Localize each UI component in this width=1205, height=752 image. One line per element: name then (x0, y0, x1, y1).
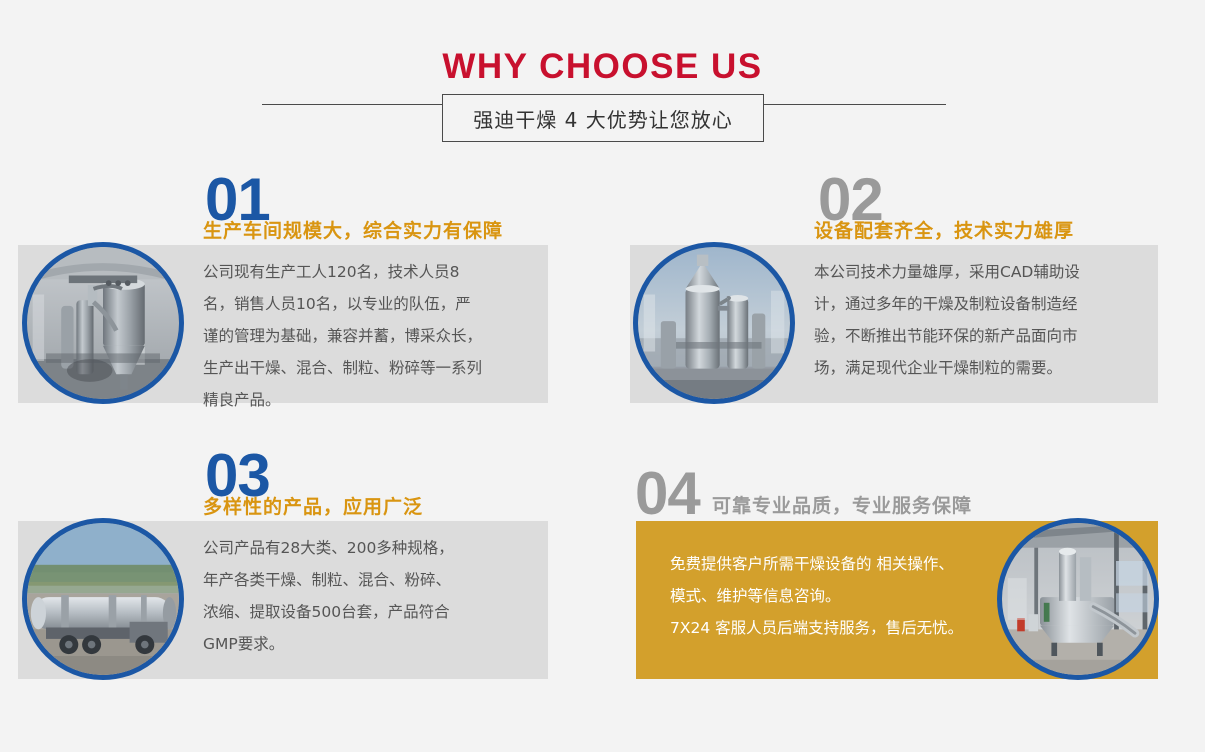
section-heading-03: 多样性的产品，应用广泛 (203, 495, 423, 519)
section-body-02: 本公司技术力量雄厚，采用CAD辅助设 计，通过多年的干燥及制粒设备制造经 验，不… (814, 256, 1162, 384)
page-title: WHY CHOOSE US (0, 47, 1205, 87)
photo-image (638, 247, 790, 399)
body-line: 公司产品有28大类、200多种规格， (203, 532, 533, 564)
body-line: 模式、维护等信息咨询。 (670, 580, 1000, 612)
body-line: 精良产品。 (203, 384, 533, 416)
page-header: WHY CHOOSE US 强迪干燥 4 大优势让您放心 (0, 0, 1205, 160)
body-line: 年产各类干燥、制粒、混合、粉碎、 (203, 564, 533, 596)
body-line: 场，满足现代企业干燥制粒的需要。 (814, 352, 1162, 384)
photo-image (1002, 523, 1154, 675)
body-line: 生产出干燥、混合、制粒、粉碎等一系列 (203, 352, 533, 384)
header-rule-right (764, 104, 946, 105)
header-subtitle: 强迪干燥 4 大优势让您放心 (473, 104, 732, 133)
section-heading-04: 可靠专业品质，专业服务保障 (712, 494, 972, 518)
granulator-equipment-photo (633, 242, 795, 404)
body-line: 计，通过多年的干燥及制粒设备制造经 (814, 288, 1162, 320)
body-line: 本公司技术力量雄厚，采用CAD辅助设 (814, 256, 1162, 288)
body-line: 公司现有生产工人120名，技术人员8 (203, 256, 533, 288)
section-body-04: 免费提供客户所需干燥设备的 相关操作、 模式、维护等信息咨询。 7X24 客服人… (670, 548, 1000, 644)
body-line: 免费提供客户所需干燥设备的 相关操作、 (670, 548, 1000, 580)
header-rule-left (262, 104, 444, 105)
rotary-dryer-truck-photo (22, 518, 184, 680)
section-body-03: 公司产品有28大类、200多种规格， 年产各类干燥、制粒、混合、粉碎、 浓缩、提… (203, 532, 533, 660)
photo-image (27, 247, 179, 399)
body-line: 验，不断推出节能环保的新产品面向市 (814, 320, 1162, 352)
photo-image (27, 523, 179, 675)
section-body-01: 公司现有生产工人120名，技术人员8 名，销售人员10名，以专业的队伍，严 谨的… (203, 256, 533, 416)
body-line: 浓缩、提取设备500台套，产品符合 (203, 596, 533, 628)
body-line: GMP要求。 (203, 628, 533, 660)
fluid-bed-dryer-plant-photo (997, 518, 1159, 680)
header-subtitle-box: 强迪干燥 4 大优势让您放心 (442, 94, 764, 142)
body-line: 名，销售人员10名，以专业的队伍，严 (203, 288, 533, 320)
spray-dryer-tower-photo (22, 242, 184, 404)
section-heading-01: 生产车间规模大，综合实力有保障 (203, 219, 503, 243)
section-heading-02: 设备配套齐全，技术实力雄厚 (814, 219, 1074, 243)
section-number-04: 04 (635, 466, 700, 522)
body-line: 谨的管理为基础，兼容并蓄，博采众长， (203, 320, 533, 352)
body-line: 7X24 客服人员后端支持服务，售后无忧。 (670, 612, 1000, 644)
